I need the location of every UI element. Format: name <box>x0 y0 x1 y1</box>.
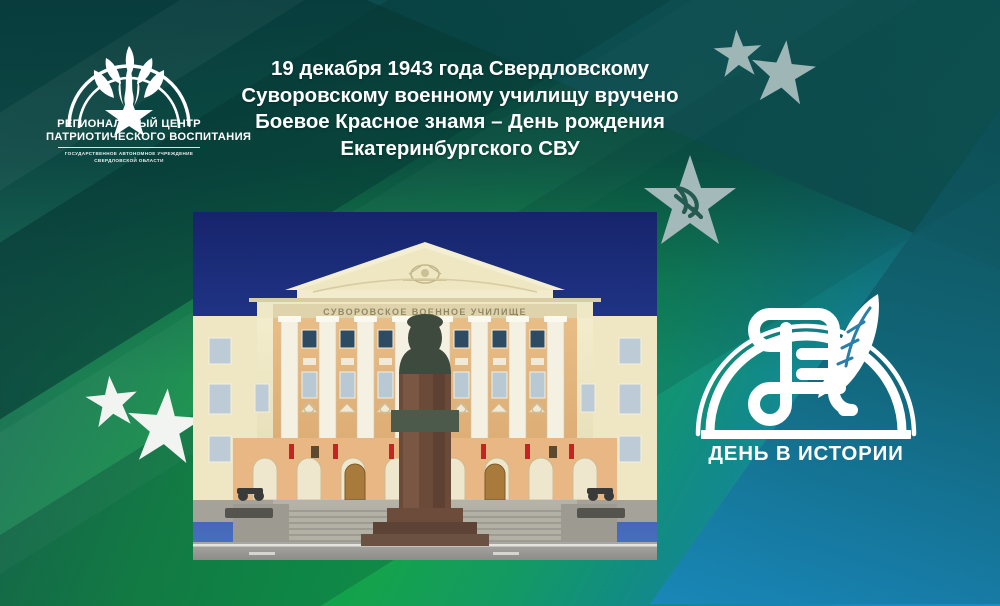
logo-subline-2: СВЕРДЛОВСКОЙ ОБЛАСТИ <box>46 158 212 165</box>
building-photo-illustration: СУВОРОВСКОЕ ВОЕННОЕ УЧИЛИЩЕ <box>193 212 657 560</box>
poster-canvas: РЕГИОНАЛЬНЫЙ ЦЕНТР ПАТРИОТИЧЕСКОГО ВОСПИ… <box>0 0 1000 606</box>
headline-line-2: Суворовскому военному училищу вручено <box>205 83 715 110</box>
headline-line-4: Екатеринбургского СВУ <box>205 136 715 163</box>
logo-text-block: РЕГИОНАЛЬНЫЙ ЦЕНТР ПАТРИОТИЧЕСКОГО ВОСПИ… <box>46 118 212 164</box>
badge-label: ДЕНЬ В ИСТОРИИ <box>692 442 920 466</box>
star-top-right-large-icon <box>745 35 822 112</box>
badge-divider <box>701 430 911 439</box>
logo-divider <box>58 147 200 148</box>
logo-line-1: РЕГИОНАЛЬНЫЙ ЦЕНТР <box>46 118 212 131</box>
headline-line-1: 19 декабря 1943 года Свердловскому <box>205 56 715 83</box>
page-title: 19 декабря 1943 года Свердловскому Сувор… <box>205 56 715 162</box>
day-in-history-badge: ДЕНЬ В ИСТОРИИ <box>692 262 920 470</box>
logo-line-2: ПАТРИОТИЧЕСКОГО ВОСПИТАНИЯ <box>46 131 212 144</box>
logo-subline-1: ГОСУДАРСТВЕННОЕ АВТОНОМНОЕ УЧРЕЖДЕНИЕ <box>46 151 212 158</box>
headline-line-3: Боевое Красное знамя – День рождения <box>205 109 715 136</box>
organisation-logo: РЕГИОНАЛЬНЫЙ ЦЕНТР ПАТРИОТИЧЕСКОГО ВОСПИ… <box>46 22 212 174</box>
photo-suvorov-military-school: СУВОРОВСКОЕ ВОЕННОЕ УЧИЛИЩЕ <box>193 212 657 560</box>
